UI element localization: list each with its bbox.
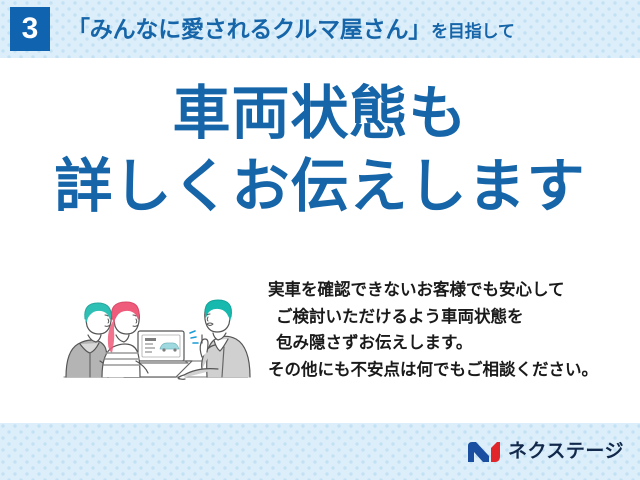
header-band: 3 「みんなに愛されるクルマ屋さん」 を目指して [0,0,640,58]
footer-band: ネクステージ [0,423,640,480]
body-copy-line-1: 実車を確認できないお客様でも安心して [268,277,598,304]
nextage-logo-text: ネクステージ [508,442,624,461]
promo-banner: 3 「みんなに愛されるクルマ屋さん」 を目指して 車両状態も 詳しくお伝えします [0,0,640,480]
headline-line-2: 詳しくお伝えします [0,153,640,220]
nextage-logo: ネクステージ [467,440,624,464]
main-content: 車両状態も 詳しくお伝えします [0,58,640,423]
body-copy-line-4: その他にも不安点は何でもご相談ください。 [268,357,598,384]
body-copy: 実車を確認できないお客様でも安心して ご検討いただけるよう車両状態を 包み隠さず… [268,273,598,384]
content-row: 実車を確認できないお客様でも安心して ご検討いただけるよう車両状態を 包み隠さず… [0,273,640,403]
headline-line-1: 車両状態も [0,80,640,147]
headline: 車両状態も 詳しくお伝えします [0,80,640,221]
header-title-suffix: を目指して [431,23,515,40]
consultation-illustration-svg [52,273,262,393]
body-copy-line-2: ご検討いただけるよう車両状態を [268,304,598,331]
header-title-quoted: 「みんなに愛されるクルマ屋さん」 [67,18,431,41]
nextage-logo-mark-icon [467,440,501,464]
body-copy-line-3: 包み隠さずお伝えします。 [268,330,598,357]
consultation-illustration [52,273,262,393]
header-title: 「みんなに愛されるクルマ屋さん」 を目指して [67,18,515,41]
step-number-badge: 3 [10,7,50,51]
